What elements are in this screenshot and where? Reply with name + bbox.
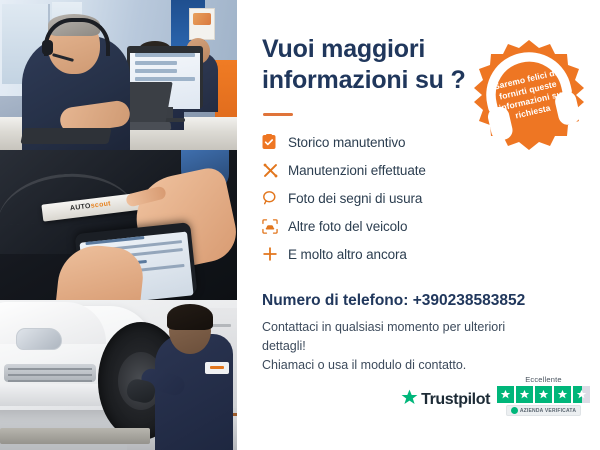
mechanic-hair bbox=[167, 304, 213, 330]
title-underline bbox=[263, 113, 293, 116]
headset-earcup bbox=[42, 40, 53, 55]
promo-badge: Saremo felici di fornirti queste informa… bbox=[472, 38, 586, 152]
star-filled bbox=[516, 386, 533, 403]
feature-label: Altre foto del veicolo bbox=[288, 219, 407, 234]
photo-column: AUTOscout bbox=[0, 0, 237, 450]
inspection-photo: AUTOscout bbox=[0, 150, 237, 300]
wall-poster bbox=[189, 8, 215, 40]
headset-band bbox=[44, 18, 110, 56]
car-frame-icon bbox=[262, 215, 288, 237]
content-panel: Vuoi maggiori informazioni su ? Sare bbox=[237, 0, 600, 450]
contact-line-2: Chiamaci o usa il modulo di contatto. bbox=[262, 356, 552, 375]
clipboard-check-icon bbox=[262, 131, 288, 153]
feature-label: E molto altro ancora bbox=[288, 247, 407, 262]
verified-label: AZIENDA VERIFICATA bbox=[520, 408, 576, 414]
feature-label: Manutenzioni effettuate bbox=[288, 163, 426, 178]
trustpilot-name: Trustpilot bbox=[421, 391, 490, 409]
uniform-logo bbox=[205, 362, 229, 374]
star-half bbox=[573, 386, 590, 403]
title-line-1: Vuoi maggiori bbox=[262, 34, 472, 65]
feature-label: Foto dei segni di usura bbox=[288, 191, 422, 206]
car-headlight bbox=[16, 328, 62, 350]
contact-description: Contattaci in qualsiasi momento per ulte… bbox=[262, 318, 552, 375]
feature-item: Foto dei segni di usura bbox=[262, 184, 477, 212]
trustpilot-logo: Trustpilot bbox=[401, 389, 490, 416]
call-center-photo bbox=[0, 0, 237, 150]
feature-item: Manutenzioni effettuate bbox=[262, 156, 477, 184]
star-filled bbox=[497, 386, 514, 403]
feature-label: Storico manutentivo bbox=[288, 135, 405, 150]
feature-item: E molto altro ancora bbox=[262, 240, 477, 268]
plus-icon bbox=[262, 243, 288, 265]
star-rating bbox=[497, 386, 590, 403]
keyboard bbox=[20, 128, 111, 144]
tools-cross-icon bbox=[262, 159, 288, 181]
feature-item: Storico manutentivo bbox=[262, 128, 477, 156]
car-bumper bbox=[0, 384, 108, 406]
star-filled bbox=[554, 386, 571, 403]
mechanic-photo bbox=[0, 300, 237, 450]
verified-business-badge: AZIENDA VERIFICATA bbox=[506, 405, 581, 416]
feature-item: Altre foto del veicolo bbox=[262, 212, 477, 240]
title-line-2: informazioni su ? bbox=[262, 65, 472, 96]
rating-word: Eccellente bbox=[525, 375, 562, 384]
trustpilot-rating: Eccellente bbox=[497, 375, 590, 416]
ruler-brand-text: AUTOscout bbox=[70, 200, 112, 212]
verified-check-icon bbox=[511, 407, 518, 414]
phone-number[interactable]: Numero di telefono: +390238583852 bbox=[262, 292, 525, 310]
star-filled bbox=[535, 386, 552, 403]
trustpilot-star-icon bbox=[401, 389, 418, 411]
page-title: Vuoi maggiori informazioni su ? bbox=[262, 34, 472, 96]
advertisement-card: AUTOscout bbox=[0, 0, 600, 450]
trustpilot-widget[interactable]: Trustpilot Eccellente bbox=[401, 375, 590, 416]
car-lift-ramp bbox=[0, 428, 150, 444]
contact-line-1: Contattaci in qualsiasi momento per ulte… bbox=[262, 318, 552, 356]
magnifier-icon bbox=[262, 187, 288, 209]
car-grille bbox=[4, 364, 96, 382]
feature-list: Storico manutentivo Manutenzioni effettu… bbox=[262, 128, 477, 268]
